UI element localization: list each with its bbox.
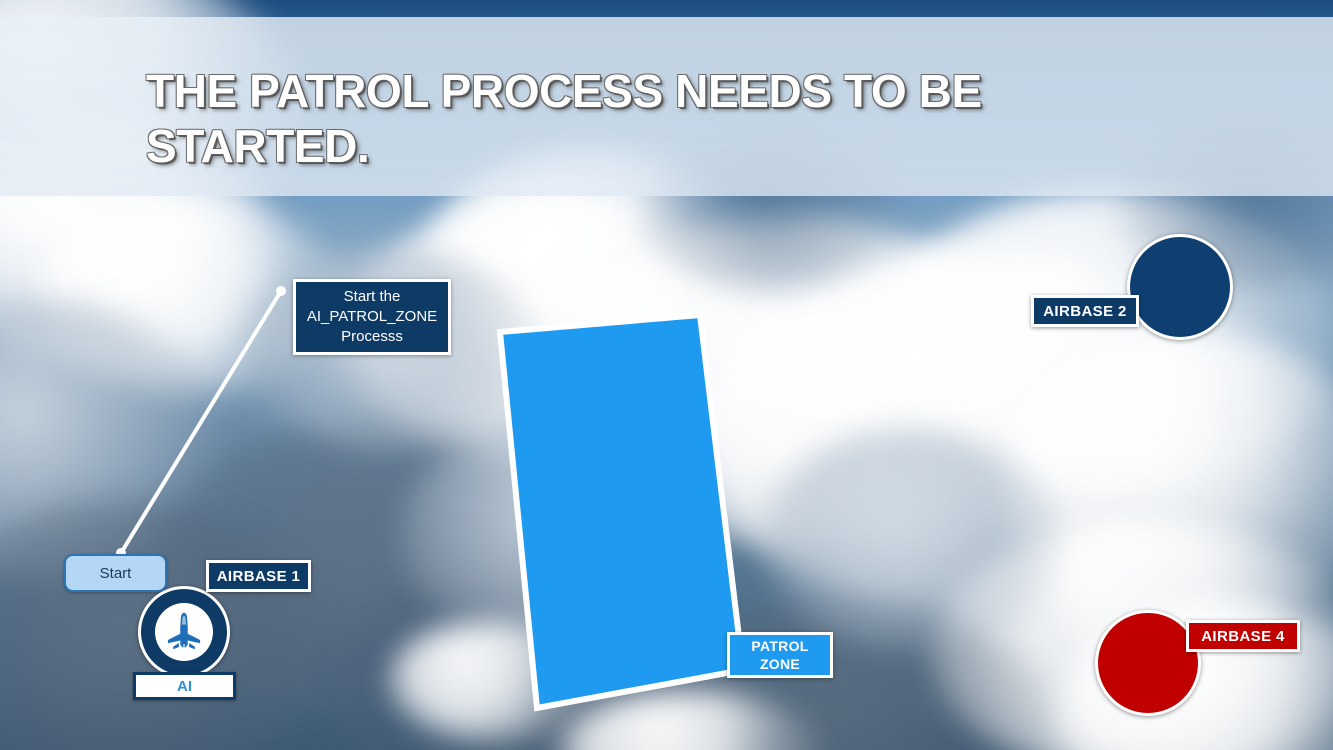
start-button-label: Start (100, 565, 132, 582)
callout-process-line3: Processs (307, 327, 437, 347)
airbase1-marker[interactable] (138, 586, 230, 678)
callout-process-text: Start the AI_PATROL_ZONE Processs (307, 287, 437, 347)
label-patrol-zone-line1: PATROL (751, 637, 808, 655)
label-ai[interactable]: AI (133, 672, 236, 700)
label-patrol-zone-line2: ZONE (751, 655, 808, 673)
callout-start-process[interactable]: Start the AI_PATROL_ZONE Processs (293, 279, 451, 355)
fighter-jet-icon (162, 610, 206, 654)
page-title: THE PATROL PROCESS NEEDS TO BE STARTED. (146, 64, 1206, 174)
label-airbase2-text: AIRBASE 2 (1043, 303, 1127, 320)
label-ai-text: AI (177, 678, 192, 695)
label-airbase1-text: AIRBASE 1 (217, 568, 301, 585)
title-band: THE PATROL PROCESS NEEDS TO BE STARTED. (0, 17, 1333, 196)
label-airbase4[interactable]: AIRBASE 4 (1186, 620, 1300, 652)
label-patrol-zone-text: PATROL ZONE (751, 637, 808, 673)
callout-process-line2: AI_PATROL_ZONE (307, 307, 437, 327)
label-airbase2[interactable]: AIRBASE 2 (1031, 295, 1139, 327)
start-button[interactable]: Start (64, 554, 167, 592)
label-airbase4-text: AIRBASE 4 (1201, 628, 1285, 645)
slide-canvas: THE PATROL PROCESS NEEDS TO BE STARTED. … (0, 0, 1333, 750)
callout-process-line1: Start the (307, 287, 437, 307)
label-airbase1[interactable]: AIRBASE 1 (206, 560, 311, 592)
airbase1-icon-disc (155, 603, 213, 661)
label-patrol-zone[interactable]: PATROL ZONE (727, 632, 833, 678)
airbase2-marker[interactable] (1127, 234, 1233, 340)
patrol-zone-area[interactable] (500, 315, 743, 708)
patrol-zone-polygon[interactable] (486, 300, 766, 725)
